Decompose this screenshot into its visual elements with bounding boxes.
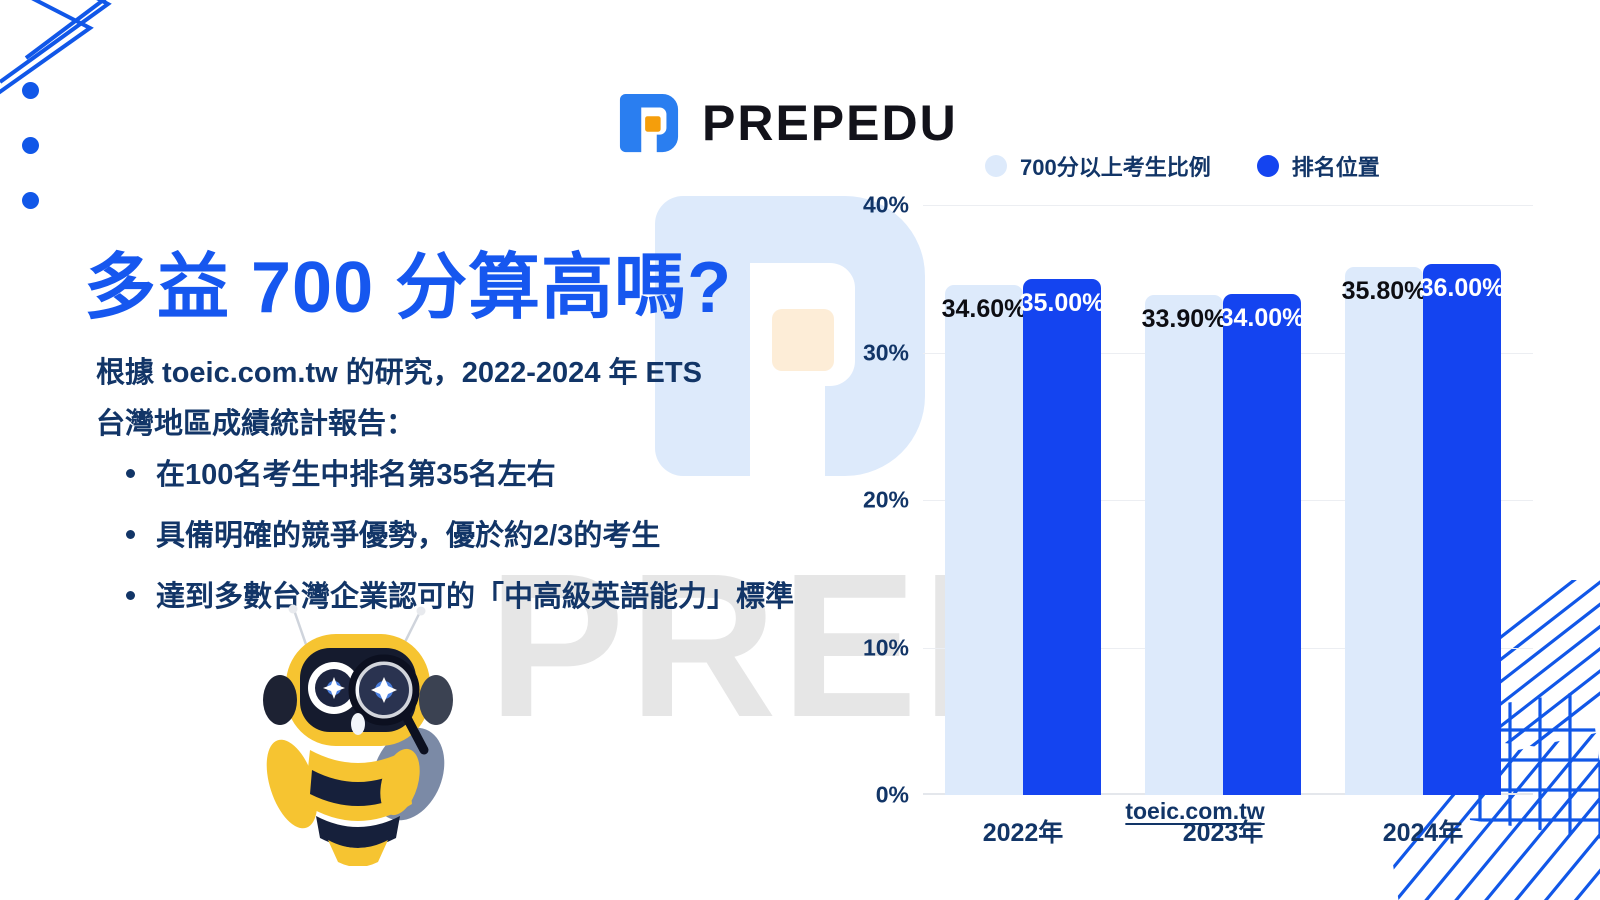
bar-chart: 700分以上考生比例 排名位置 40% 30% 20% 10% 0%: [845, 150, 1545, 830]
legend-item-light: 700分以上考生比例: [985, 150, 1211, 182]
list-item: 具備明確的競爭優勢，優於約2/3的考生: [122, 513, 882, 560]
list-item: 在100名考生中排名第35名左右: [122, 452, 882, 499]
prepedu-logo-icon: [618, 92, 680, 154]
legend-swatch-icon: [985, 155, 1007, 177]
bar-group: 34.60% 35.00% 2022年: [923, 205, 1123, 795]
bar-value-label: 35.80%: [1342, 277, 1427, 306]
bar-light[interactable]: 35.80%: [1345, 267, 1423, 795]
lede-paragraph: 根據 toeic.com.tw 的研究，2022-2024 年 ETS 台灣地區…: [96, 348, 836, 450]
list-item: 達到多數台灣企業認可的「中高級英語能力」標準: [122, 574, 882, 621]
bar-light[interactable]: 33.90%: [1145, 295, 1223, 795]
bar-light[interactable]: 34.60%: [945, 285, 1023, 795]
bar-value-label: 34.60%: [942, 295, 1027, 324]
three-dots-decoration: [22, 82, 39, 247]
legend-swatch-icon: [1257, 155, 1279, 177]
y-axis-tick: 40%: [863, 192, 909, 219]
bullet-dot-icon: [126, 530, 135, 539]
x-axis-label: 2024年: [1383, 813, 1464, 849]
lede-line-1: 根據 toeic.com.tw 的研究，2022-2024 年 ETS: [96, 348, 836, 399]
bar-dark[interactable]: 34.00%: [1223, 294, 1301, 796]
brand-logo: PREPEDU: [618, 92, 958, 154]
y-axis-tick: 10%: [863, 634, 909, 661]
bar-dark[interactable]: 35.00%: [1023, 279, 1101, 795]
infographic-canvas: PREP PREPEDU 多益 700 分算高嗎? 根據 toeic.com.t…: [0, 0, 1600, 900]
bee-mascot: [248, 604, 468, 866]
bar-value-label: 35.00%: [1020, 289, 1105, 318]
plot-area: 40% 30% 20% 10% 0% 34.60% 35.00% 2022年: [923, 205, 1523, 795]
y-axis-tick: 30%: [863, 339, 909, 366]
bar-groups: 34.60% 35.00% 2022年 33.90% 34.: [923, 205, 1523, 795]
source-link[interactable]: toeic.com.tw: [1125, 798, 1264, 825]
brand-name: PREPEDU: [702, 94, 958, 152]
y-axis-tick: 20%: [863, 487, 909, 514]
list-item-label: 在100名考生中排名第35名左右: [156, 459, 556, 491]
legend-label: 700分以上考生比例: [1020, 150, 1211, 182]
page-title: 多益 700 分算高嗎?: [84, 228, 732, 333]
y-axis-tick: 0%: [876, 782, 909, 809]
lede-line-2: 台灣地區成績統計報告：: [96, 399, 836, 450]
bar-group: 35.80% 36.00% 2024年: [1323, 205, 1523, 795]
bullet-dot-icon: [126, 469, 135, 478]
legend-label: 排名位置: [1292, 150, 1380, 182]
list-item-label: 具備明確的競爭優勢，優於約2/3的考生: [156, 520, 660, 552]
bar-value-label: 34.00%: [1220, 304, 1305, 333]
bar-value-label: 36.00%: [1420, 274, 1505, 303]
bullet-dot-icon: [126, 591, 135, 600]
legend-item-dark: 排名位置: [1257, 150, 1380, 182]
chart-legend: 700分以上考生比例 排名位置: [985, 150, 1380, 182]
key-points-list: 在100名考生中排名第35名左右 具備明確的競爭優勢，優於約2/3的考生 達到多…: [122, 452, 882, 635]
bar-dark[interactable]: 36.00%: [1423, 264, 1501, 795]
bar-group: 33.90% 34.00% 2023年: [1123, 205, 1323, 795]
x-axis-label: 2022年: [983, 813, 1064, 849]
bar-value-label: 33.90%: [1142, 305, 1227, 334]
